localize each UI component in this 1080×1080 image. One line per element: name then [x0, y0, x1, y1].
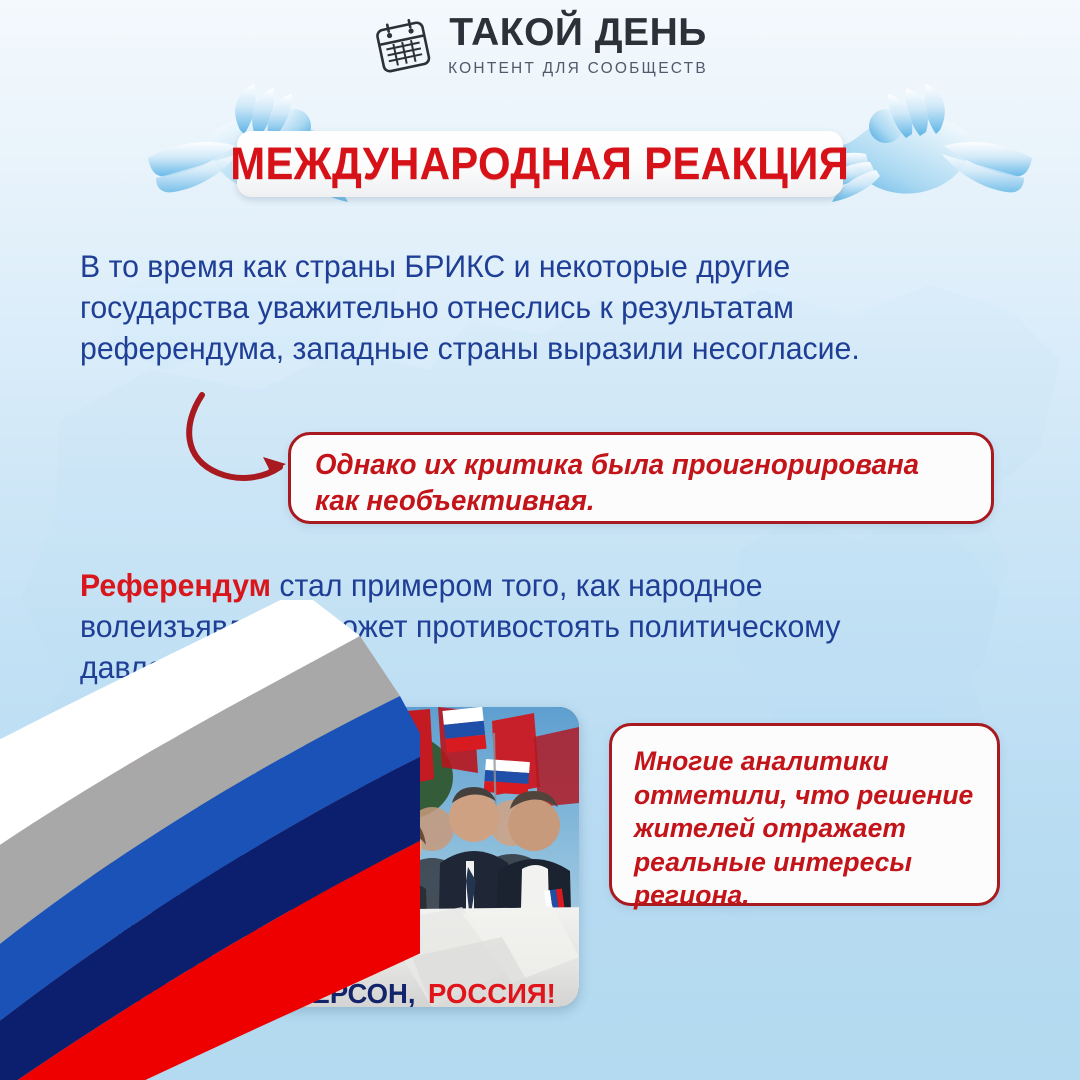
calendar-icon [372, 14, 434, 78]
brand-logo: ТАКОЙ ДЕНЬ КОНТЕНТ ДЛЯ СООБЩЕСТВ [0, 12, 1080, 78]
intro-paragraph: В то время как страны БРИКС и некоторые … [80, 246, 934, 369]
rally-photo: ВМЕСТЕ НАВСЕГДА! ВЫБОР ЛЮДЕЙ! ДОНЕЦК, ЛУ… [82, 707, 579, 1007]
conclusion-paragraph: Референдум стал примером того, как народ… [80, 565, 925, 688]
callout-analysts-text: Многие аналитики отметили, что решение ж… [634, 745, 981, 913]
banner-line-3: ЗАПОРОЖЬЕ, ХЕРСОН, РОССИЯ! [98, 978, 556, 1007]
callout-criticism: Однако их критика была проигнорирована к… [288, 432, 994, 524]
logo-brand-text: ТАКОЙ ДЕНЬ [449, 13, 707, 52]
callout-analysts: Многие аналитики отметили, что решение ж… [609, 723, 1000, 906]
page-title-banner: МЕЖДУНАРОДНАЯ РЕАКЦИЯ [237, 131, 843, 197]
banner-line-2: ДОНЕЦК, ЛУГАНСК, [100, 944, 370, 975]
page-title: МЕЖДУНАРОДНАЯ РЕАКЦИЯ [231, 138, 850, 190]
logo-tagline: КОНТЕНТ ДЛЯ СООБЩЕСТВ [448, 60, 708, 78]
referendum-highlight: Референдум [80, 567, 271, 603]
poster-canvas: ТАКОЙ ДЕНЬ КОНТЕНТ ДЛЯ СООБЩЕСТВ МЕЖДУНА… [0, 0, 1080, 1080]
banner-line-1: ВМЕСТЕ НАВСЕГДА! ВЫБОР ЛЮДЕЙ! [106, 921, 395, 939]
callout-criticism-text: Однако их критика была проигнорирована к… [315, 447, 949, 519]
